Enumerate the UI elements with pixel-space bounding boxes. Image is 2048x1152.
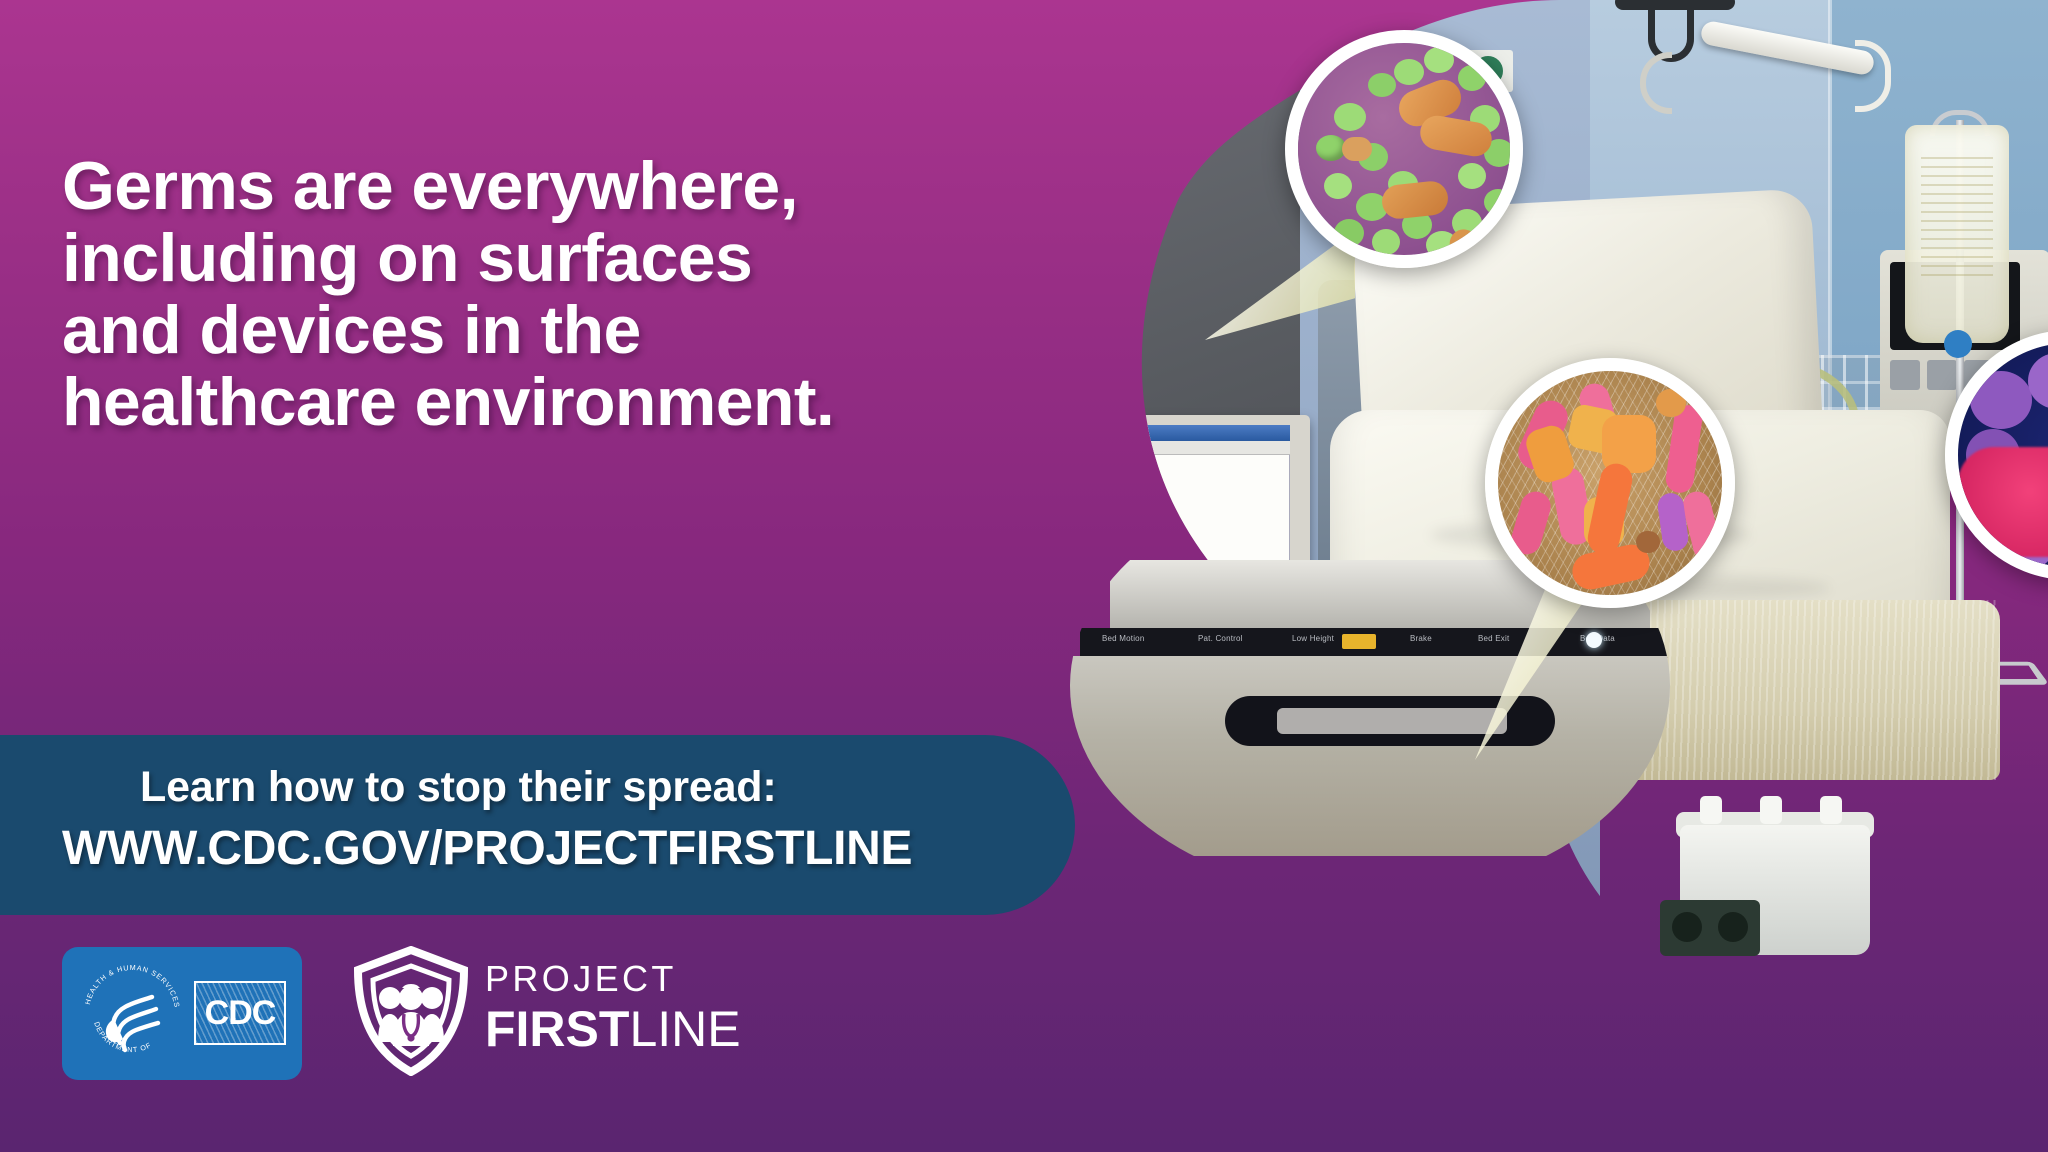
cdc-logo: HEALTH & HUMAN SERVICES DEPARTMENT OF CD… xyxy=(62,947,302,1080)
headline: Germs are everywhere, including on surfa… xyxy=(62,150,982,438)
germ-circle-middle xyxy=(1485,358,1735,608)
germ-circle-top-image xyxy=(1298,43,1510,255)
wall-gas-outlets xyxy=(1660,900,1760,956)
footboard-brake-indicator xyxy=(1342,634,1376,649)
cdc-wordmark: CDC xyxy=(194,981,286,1045)
canister-port-1 xyxy=(1700,796,1722,824)
poster-canvas: Bed Motion Pat. Control Low Height Brake… xyxy=(0,0,2048,1152)
cta-prompt: Learn how to stop their spread: xyxy=(140,763,776,812)
pfl-project-text: PROJECT xyxy=(485,958,677,1000)
iv-fluid-bag xyxy=(1905,125,2009,343)
cta-banner[interactable]: Learn how to stop their spread: WWW.CDC.… xyxy=(0,735,1075,915)
pfl-line-text: LINE xyxy=(629,1001,740,1057)
canister-port-2 xyxy=(1760,796,1782,824)
screen-dark-panel xyxy=(992,457,1052,587)
pfl-firstline-text: FIRSTLINE xyxy=(485,1000,741,1058)
footboard-status-led xyxy=(1586,632,1602,648)
footboard-panel xyxy=(1070,656,1670,856)
germ-circle-right xyxy=(1945,330,2048,580)
shield-healthcare-workers-icon xyxy=(352,946,470,1076)
bed-footboard-area: Bed Motion Pat. Control Low Height Brake… xyxy=(1070,560,1670,980)
germ-circle-right-image xyxy=(1958,343,2048,567)
window-toolbar xyxy=(990,441,1290,455)
pfl-first-text: FIRST xyxy=(485,1001,629,1057)
hhs-seal-icon: HEALTH & HUMAN SERVICES DEPARTMENT OF xyxy=(76,957,188,1069)
cta-url[interactable]: WWW.CDC.GOV/PROJECTFIRSTLINE xyxy=(62,821,912,876)
window-titlebar xyxy=(990,425,1290,441)
project-firstline-logo: PROJECT FIRSTLINE xyxy=(352,940,712,1080)
germ-circle-middle-image xyxy=(1498,371,1722,595)
canister-port-3 xyxy=(1820,796,1842,824)
germ-circle-top xyxy=(1285,30,1523,268)
